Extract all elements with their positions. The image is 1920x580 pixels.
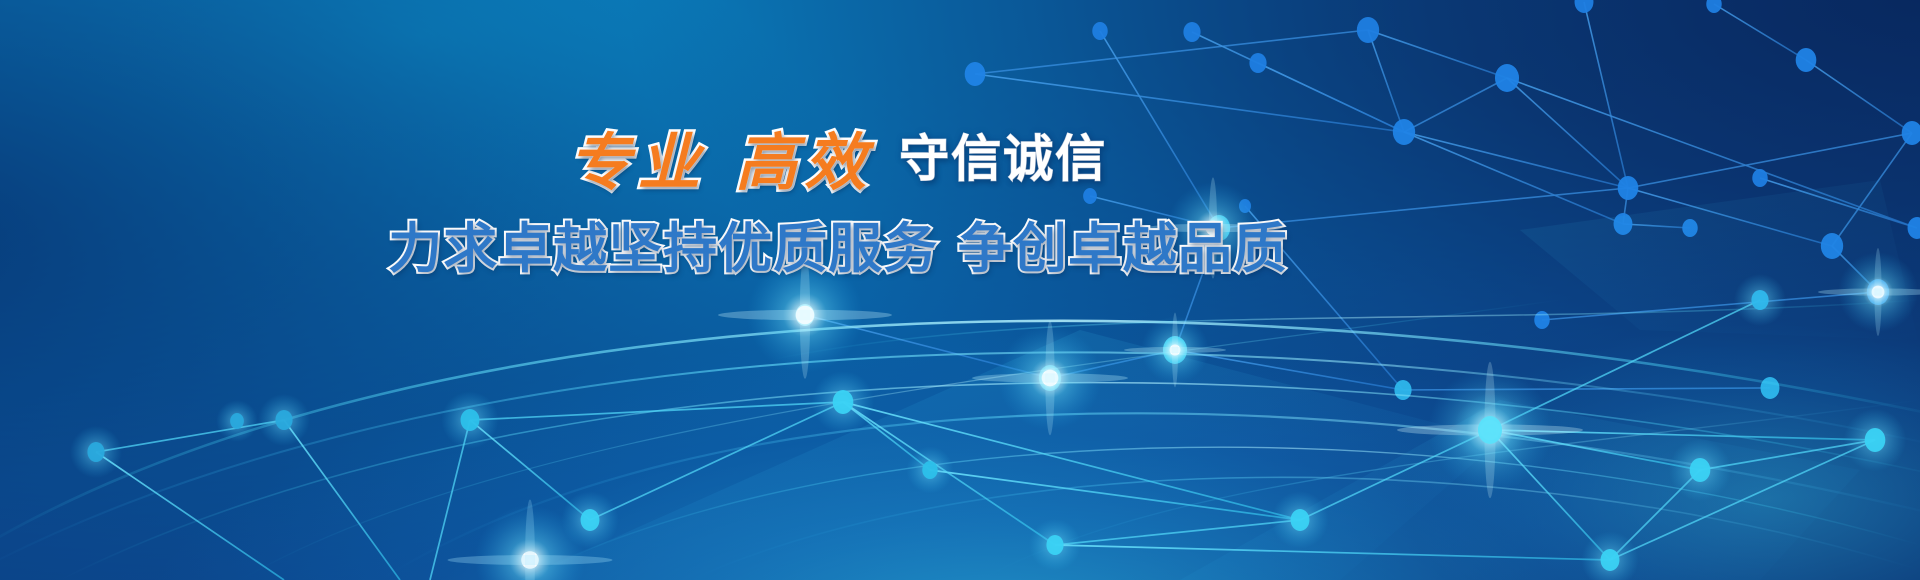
globe-arc-sweeps xyxy=(0,0,1920,580)
promo-banner: 专业 高效守信诚信 力求卓越坚持优质服务 争创卓越品质 xyxy=(0,0,1920,580)
network-mesh-upper xyxy=(0,0,1920,580)
headline-line-2: 力求卓越坚持优质服务 争创卓越品质 xyxy=(0,222,1798,276)
network-mesh-lower xyxy=(0,0,1920,580)
background-corner-glow xyxy=(0,0,1920,580)
headline-line-1: 专业 高效守信诚信 xyxy=(0,132,1798,204)
headline-block: 专业 高效守信诚信 力求卓越坚持优质服务 争创卓越品质 xyxy=(0,132,1920,276)
headline-subtitle: 力求卓越坚持优质服务 争创卓越品质 xyxy=(388,217,1288,280)
background-base-gradient xyxy=(0,0,1920,580)
headline-secondary-white: 守信诚信 xyxy=(899,130,1107,188)
background-right-dark-overlay xyxy=(0,0,1920,580)
background-left-dark-overlay xyxy=(0,0,1920,580)
headline-primary-orange: 专业 高效 xyxy=(569,126,874,199)
glow-points xyxy=(448,177,1920,580)
background-bottom-glow xyxy=(0,0,1920,580)
